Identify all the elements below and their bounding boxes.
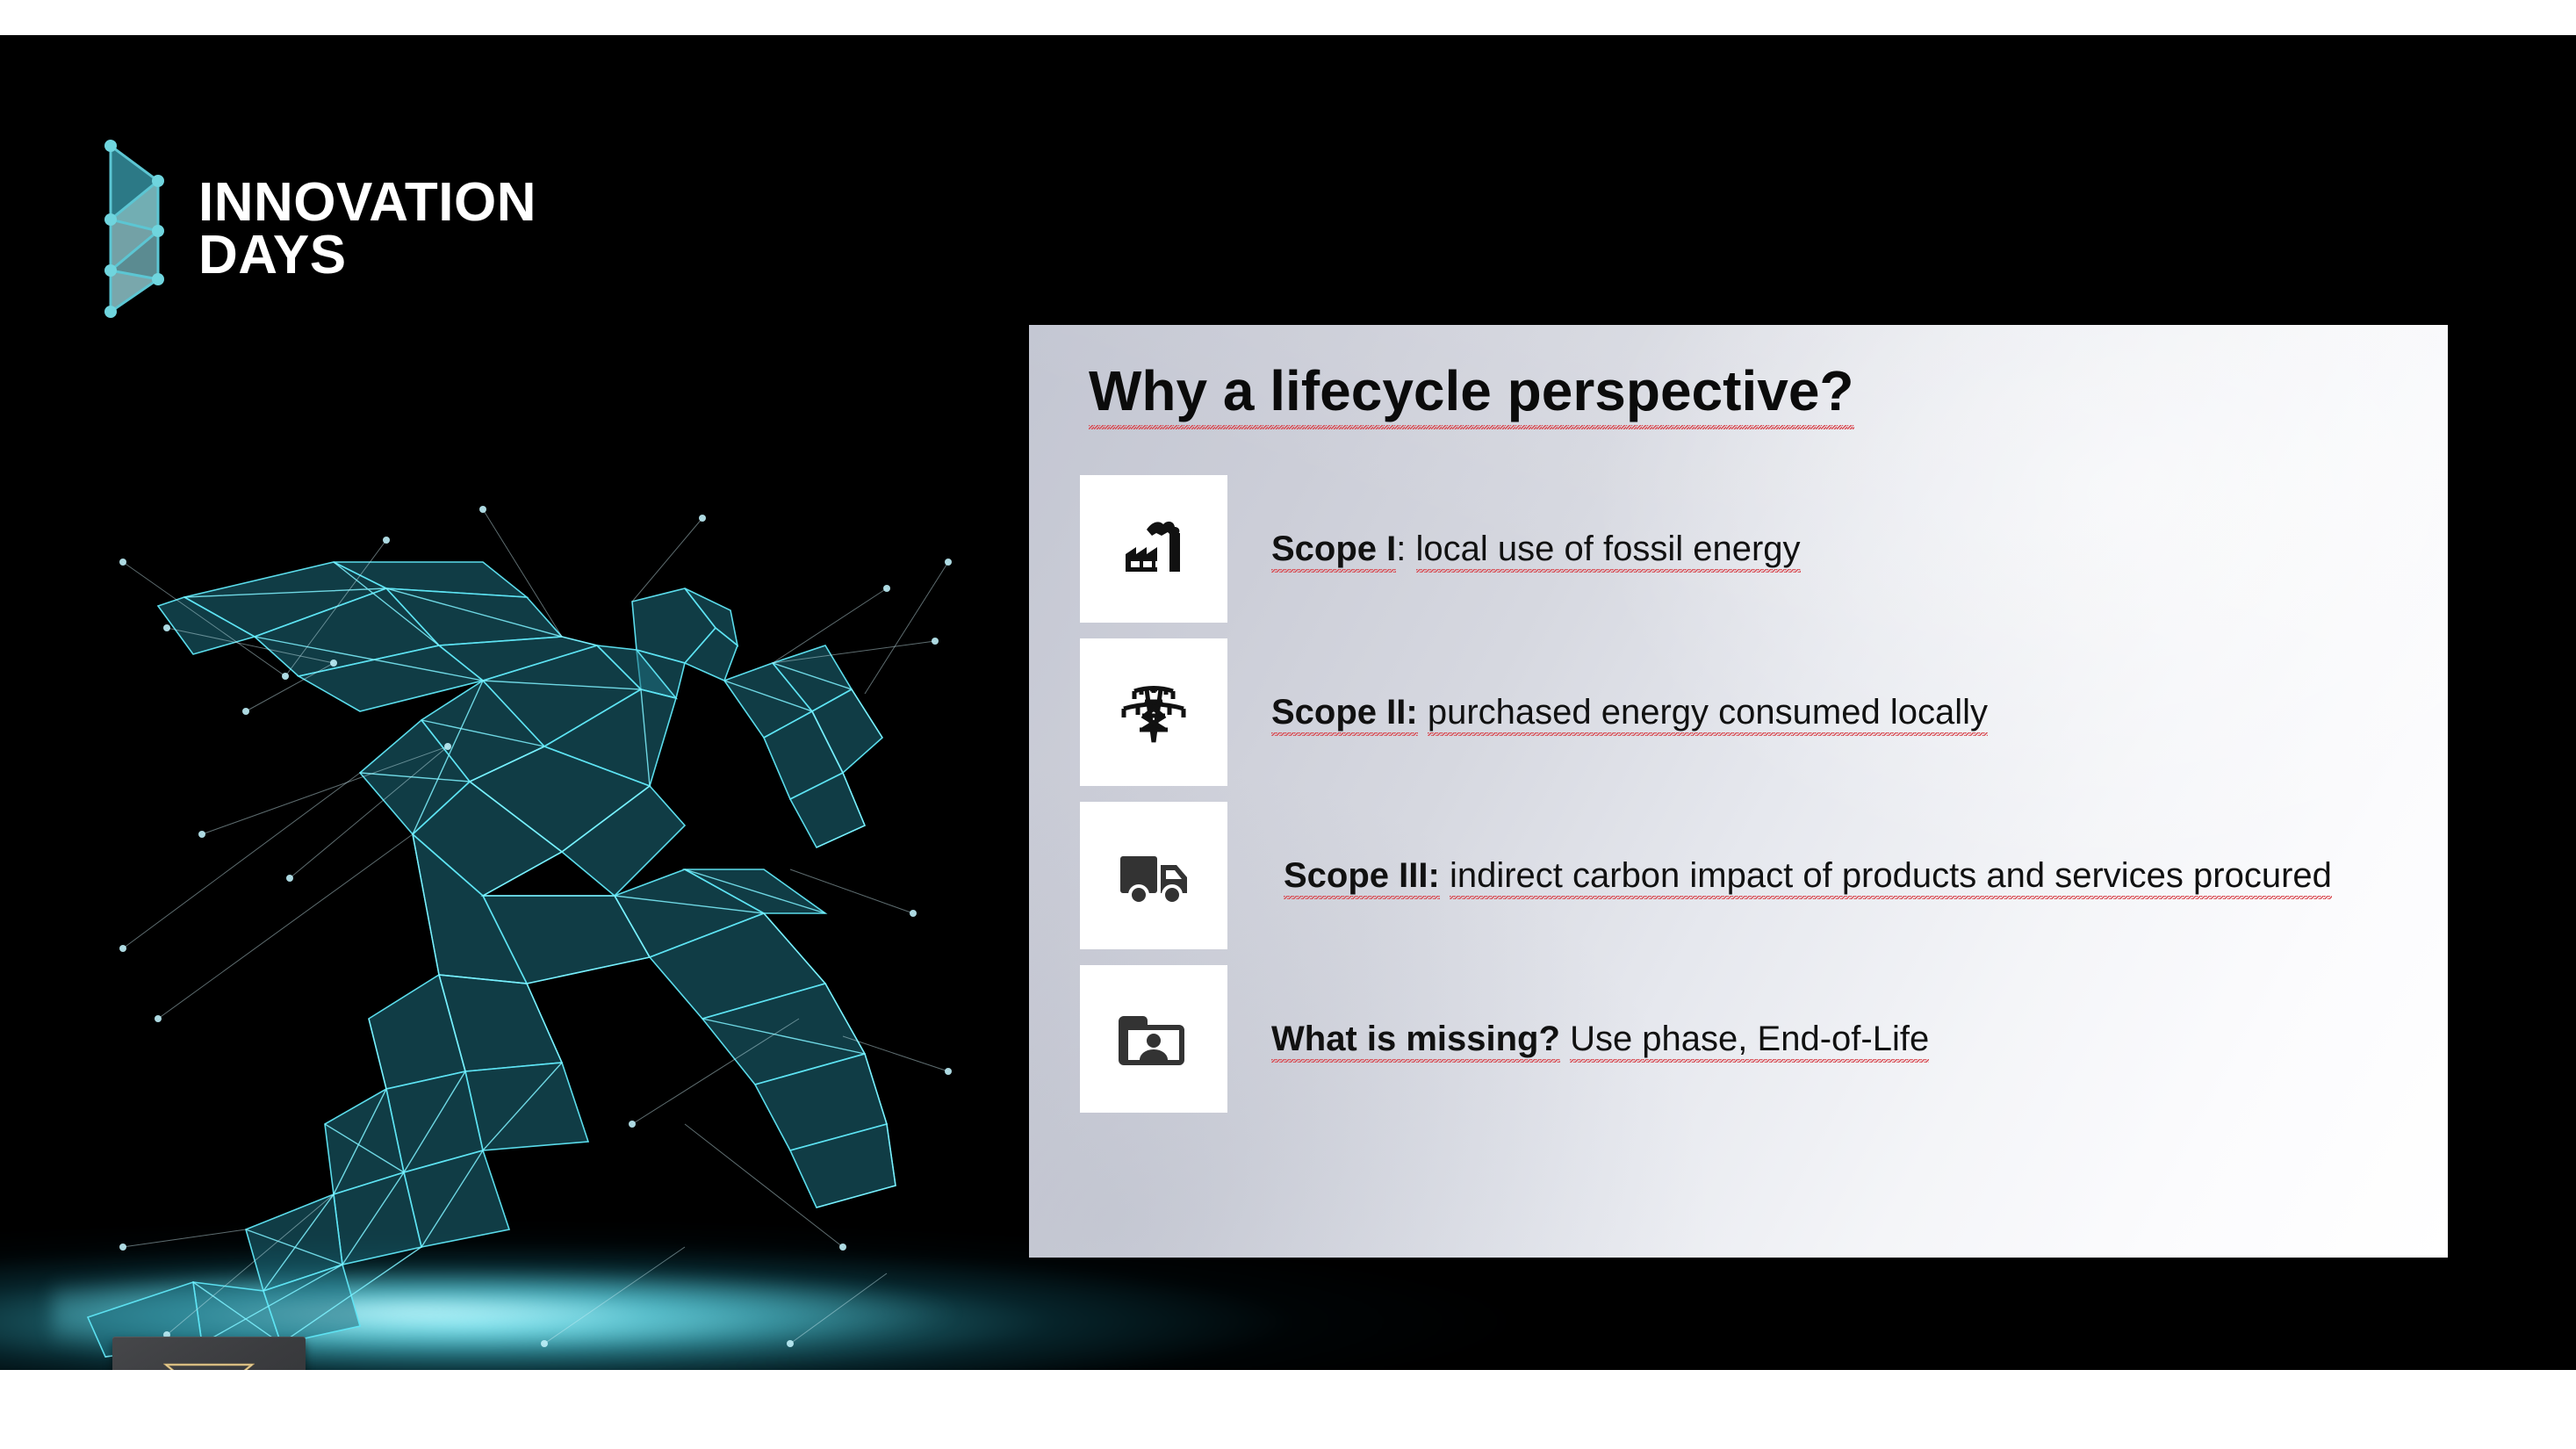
scope-row-sep [1560,1020,1570,1058]
scope-row-lead: Scope III: [1284,856,1440,899]
scope-row-text: What is missing? Use phase, End-of-Life [1271,1017,1929,1061]
low-poly-wireframe-runner [70,457,966,1361]
slide: INNOVATION DAYS [0,0,2576,1449]
letterbox-top [0,0,2576,35]
scope-row: Scope I: local use of fossil energy [1080,467,2430,631]
power-pylon-icon-tile [1080,638,1227,786]
logo-line-2: DAYS [198,229,536,282]
scope-row-body: Use phase, End-of-Life [1570,1020,1929,1063]
scope-row-lead: Scope II: [1271,693,1418,736]
innovation-days-wordmark: INNOVATION DAYS [198,177,536,281]
folder-person-icon [1112,997,1196,1081]
scope-row-sep [1418,693,1428,732]
letterbox-bottom [0,1370,2576,1449]
scope-row-lead: Scope I [1271,530,1396,573]
slide-stage: INNOVATION DAYS [0,35,2576,1370]
scope-row-text: Scope I: local use of fossil energy [1271,527,1801,571]
folder-person-icon-tile [1080,965,1227,1113]
scope-row-lead: What is missing? [1271,1020,1560,1063]
scope-row: What is missing? Use phase, End-of-Life [1080,957,2430,1121]
trelleborg-tw-emblem-icon [163,1356,255,1371]
scope-row-text: Scope II: purchased energy consumed loca… [1271,690,1988,734]
scope-row-body: purchased energy consumed locally [1428,693,1988,736]
scope-row-body: local use of fossil energy [1416,530,1801,573]
scope-row: Scope III: indirect carbon impact of pro… [1080,794,2430,957]
panel-title: Why a lifecycle perspective? [1089,360,1854,422]
panel-title-text: Why a lifecycle perspective? [1089,359,1854,429]
delivery-truck-icon [1112,833,1196,918]
power-pylon-icon [1112,670,1196,754]
factory-icon-tile [1080,475,1227,623]
scope-rows: Scope I: local use of fossil energy [1080,467,2430,1121]
logo-line-1: INNOVATION [198,177,536,229]
scope-row-body: indirect carbon impact of products and s… [1450,856,2332,899]
content-panel: Why a lifecycle perspective? [1029,325,2448,1258]
innovation-days-logo: INNOVATION DAYS [104,139,536,319]
innovation-days-polygon-mark-icon [104,139,174,319]
scope-row: Scope II: purchased energy consumed loca… [1080,631,2430,794]
scope-row-sep: : [1396,530,1415,568]
scope-row-text: Scope III: indirect carbon impact of pro… [1284,854,2332,898]
factory-icon [1112,507,1196,591]
scope-row-sep [1440,856,1450,895]
delivery-truck-icon-tile [1080,802,1227,949]
trelleborg-logo-plaque: TRELLEBORG [112,1337,306,1370]
